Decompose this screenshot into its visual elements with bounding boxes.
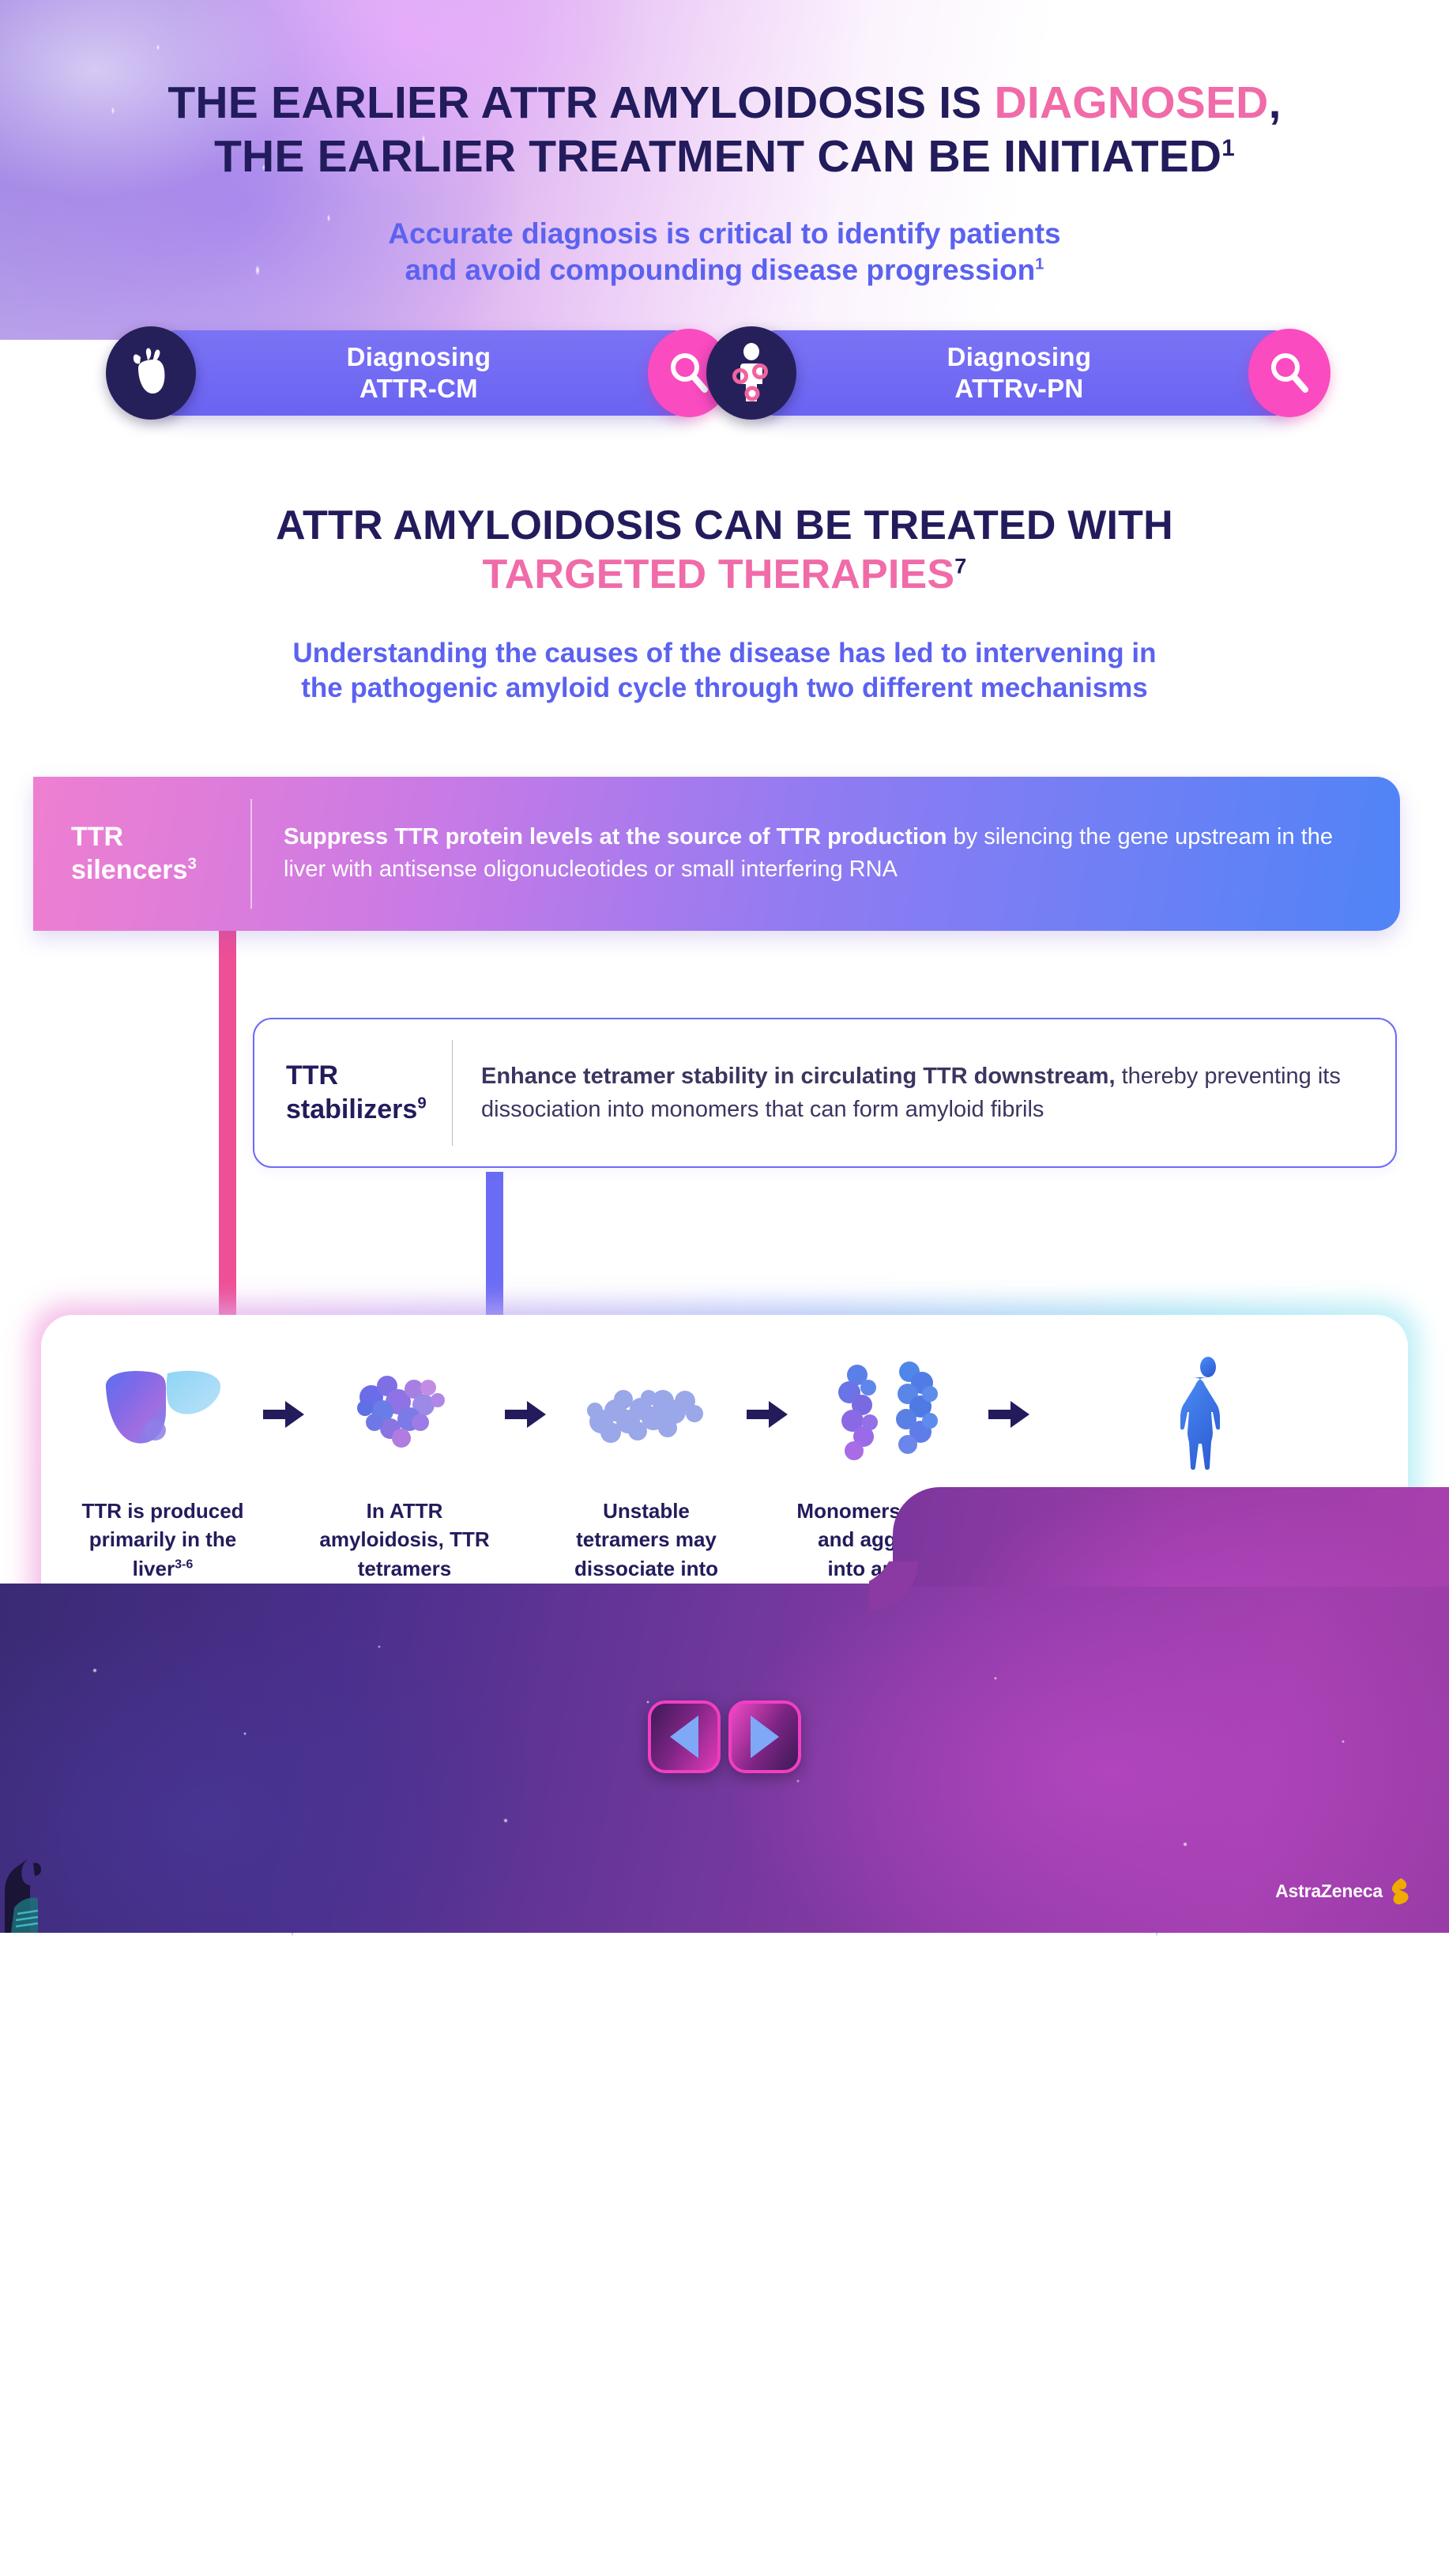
subtitle-citation: 1 (1035, 256, 1044, 273)
treatment-heading-citation: 7 (954, 555, 966, 578)
person-nerve-icon (706, 326, 796, 420)
unstable-tetramer-illustration (576, 1356, 717, 1473)
magnifier-icon[interactable] (1248, 329, 1330, 417)
diagnosing-attr-cm-button[interactable]: Diagnosing ATTR-CM (152, 330, 697, 416)
footer-notch (893, 1487, 1449, 1587)
astrazeneca-wordmark: AstraZeneca (1275, 1881, 1383, 1902)
astrazeneca-logo: AstraZeneca (1275, 1877, 1411, 1904)
chevron-left-icon (670, 1715, 698, 1758)
title-highlight-diagnosed: DIAGNOSED (995, 77, 1269, 128)
title-line-1: THE EARLIER ATTR AMYLOIDOSIS IS DIAGNOSE… (167, 77, 1281, 128)
subtitle-line-1: Accurate diagnosis is critical to identi… (388, 217, 1060, 250)
treatment-intro-line-1: Understanding the causes of the disease … (292, 638, 1156, 668)
hero-subtitle: Accurate diagnosis is critical to identi… (0, 216, 1449, 289)
ttr-stabilizers-body: Enhance tetramer stability in circulatin… (453, 1039, 1395, 1147)
page-title: THE EARLIER ATTR AMYLOIDOSIS IS DIAGNOSE… (0, 76, 1449, 184)
diagnosis-button-row: Diagnosing ATTR-CM (0, 330, 1449, 416)
diagnosing-attrv-pn-button[interactable]: Diagnosing ATTRv-PN (752, 330, 1297, 416)
diagnosing-attrv-pn-label: Diagnosing ATTRv-PN (927, 341, 1123, 405)
process-step-caption: TTR is produced primarily in the liver3-… (71, 1497, 254, 1583)
subtitle-line-2: and avoid compounding disease progressio… (405, 254, 1035, 286)
liver-illustration (100, 1356, 226, 1473)
footer-bar: AstraZeneca (0, 1584, 1449, 1933)
infographic-page: THE EARLIER ATTR AMYLOIDOSIS IS DIAGNOSE… (0, 0, 1449, 1933)
treatment-heading-highlight: TARGETED THERAPIES (482, 552, 954, 597)
treatment-heading-line-1: ATTR AMYLOIDOSIS CAN BE TREATED WITH (276, 503, 1173, 548)
ttr-stabilizers-citation: 9 (417, 1095, 426, 1113)
mechanism-section: TTR silencers3 Suppress TTR protein leve… (0, 777, 1449, 1168)
arrow-right-icon (496, 1356, 555, 1473)
treatment-heading-section: ATTR AMYLOIDOSIS CAN BE TREATED WITH TAR… (0, 501, 1449, 706)
stargazer-silhouette (5, 1832, 68, 1933)
ttr-stabilizers-title: TTR stabilizers9 (254, 1059, 452, 1126)
process-step: In ATTR amyloidosis, TTR tetramers desta… (313, 1356, 496, 1612)
title-line-2: THE EARLIER TREATMENT CAN BE INITIATED1 (214, 131, 1235, 182)
ttr-stabilizers-card: TTR stabilizers9 Enhance tetramer stabil… (253, 1018, 1397, 1168)
ttr-silencers-title: TTR silencers3 (33, 820, 250, 887)
process-step: TTR is produced primarily in the liver3-… (71, 1356, 254, 1583)
tetramer-cluster-illustration (341, 1356, 468, 1473)
ttr-silencers-body-bold: Suppress TTR protein levels at the sourc… (284, 824, 947, 849)
process-step: Unstable tetramers may dissociate into m… (555, 1356, 738, 1612)
arrow-right-icon (738, 1356, 796, 1473)
ttr-stabilizers-body-bold: Enhance tetramer stability in circulatin… (481, 1064, 1116, 1089)
diagnosing-attr-cm-label: Diagnosing ATTR-CM (326, 341, 523, 405)
ttr-silencers-card: TTR silencers3 Suppress TTR protein leve… (33, 777, 1400, 931)
previous-page-button[interactable] (648, 1700, 721, 1773)
astrazeneca-mark-icon (1387, 1877, 1411, 1904)
arrow-right-icon (980, 1356, 1038, 1473)
pagination-controls (0, 1700, 1449, 1773)
treatment-intro-line-2: the pathogenic amyloid cycle through two… (301, 672, 1148, 703)
heart-icon (106, 326, 196, 420)
monomer-fibril-illustration (821, 1356, 955, 1473)
chevron-right-icon (751, 1715, 779, 1758)
arrow-right-icon (254, 1356, 313, 1473)
treatment-intro: Understanding the causes of the disease … (0, 636, 1449, 706)
treatment-heading: ATTR AMYLOIDOSIS CAN BE TREATED WITH TAR… (0, 501, 1449, 600)
hero-section: THE EARLIER ATTR AMYLOIDOSIS IS DIAGNOSE… (0, 0, 1449, 289)
title-citation: 1 (1221, 135, 1235, 161)
ttr-silencers-citation: 3 (187, 856, 196, 873)
next-page-button[interactable] (728, 1700, 801, 1773)
ttr-silencers-body: Suppress TTR protein levels at the sourc… (252, 797, 1400, 910)
human-body-illustration (1165, 1356, 1251, 1473)
